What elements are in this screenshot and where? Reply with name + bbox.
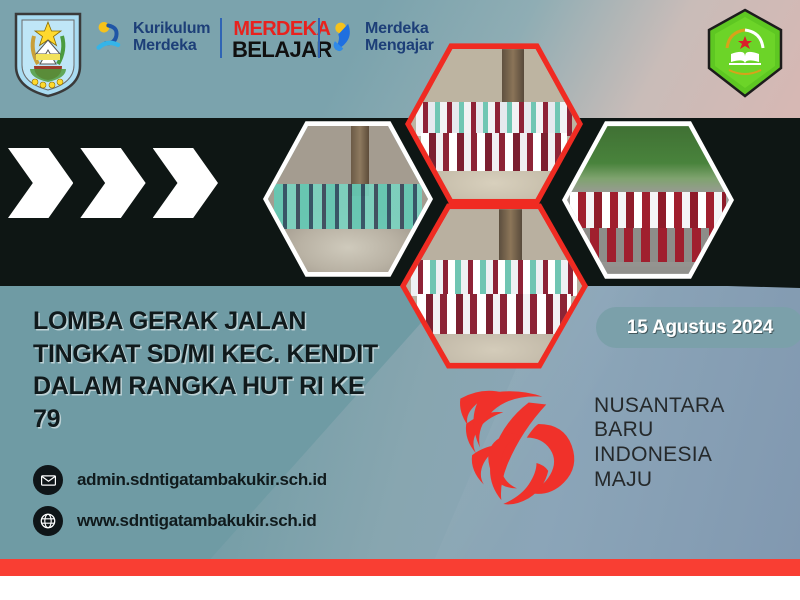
bottom-white-strip [0,576,800,600]
bottom-red-strip [0,559,800,576]
chevron-arrows-group [8,148,218,218]
email-value: admin.sdntigatambakukir.sch.id [77,470,327,490]
hut-ri-79-mark-icon [452,381,580,506]
globe-icon [33,506,63,536]
contact-block: admin.sdntigatambakukir.sch.id www.sdnti… [33,465,433,547]
kurikulum-merdeka-label: Kurikulum Merdeka [133,20,210,55]
date-badge: 15 Agustus 2024 [596,307,800,348]
kurikulum-merdeka-logo: Kurikulum Merdeka [96,20,210,55]
people-row-decor [411,260,576,295]
contact-row-website[interactable]: www.sdntigatambakukir.sch.id [33,506,433,536]
brand-divider [220,18,222,58]
people-row-decor [417,294,572,334]
running-person-icon [96,21,126,53]
people-row-decor [274,184,421,230]
merdeka-mengajar-label: Merdeka Mengajar [365,20,434,55]
date-badge-label: 15 Agustus 2024 [627,317,773,339]
photo-image-top [411,46,577,202]
merdeka-mengajar-logo: Merdeka Mengajar [330,20,434,55]
photo-image-bottom [406,206,582,366]
school-logo-icon [705,8,785,100]
hut-ri-slogan: NUSANTARA BARU INDONESIA MAJU [594,394,725,492]
envelope-icon [33,465,63,495]
east-java-emblem-icon [12,6,84,98]
website-value: www.sdntigatambakukir.sch.id [77,511,316,531]
poster-canvas: Kurikulum Merdeka MERDEKA BELAJAR Merdek… [0,0,800,600]
brand-divider [318,18,320,58]
chevron-right-icon [8,148,73,218]
chevron-right-icon [153,148,218,218]
hut-ri-logo-block: NUSANTARA BARU INDONESIA MAJU [452,378,782,508]
people-row-decor [416,102,572,136]
marchers-legs-decor [573,228,722,262]
page-title: LOMBA GERAK JALAN TINGKAT SD/MI KEC. KEN… [33,305,393,435]
merdeka-belajar-logo: MERDEKA BELAJAR [232,19,332,61]
chevron-right-icon [80,148,145,218]
raising-person-icon [330,21,358,53]
people-row-decor [421,133,567,170]
contact-row-email[interactable]: admin.sdntigatambakukir.sch.id [33,465,433,495]
